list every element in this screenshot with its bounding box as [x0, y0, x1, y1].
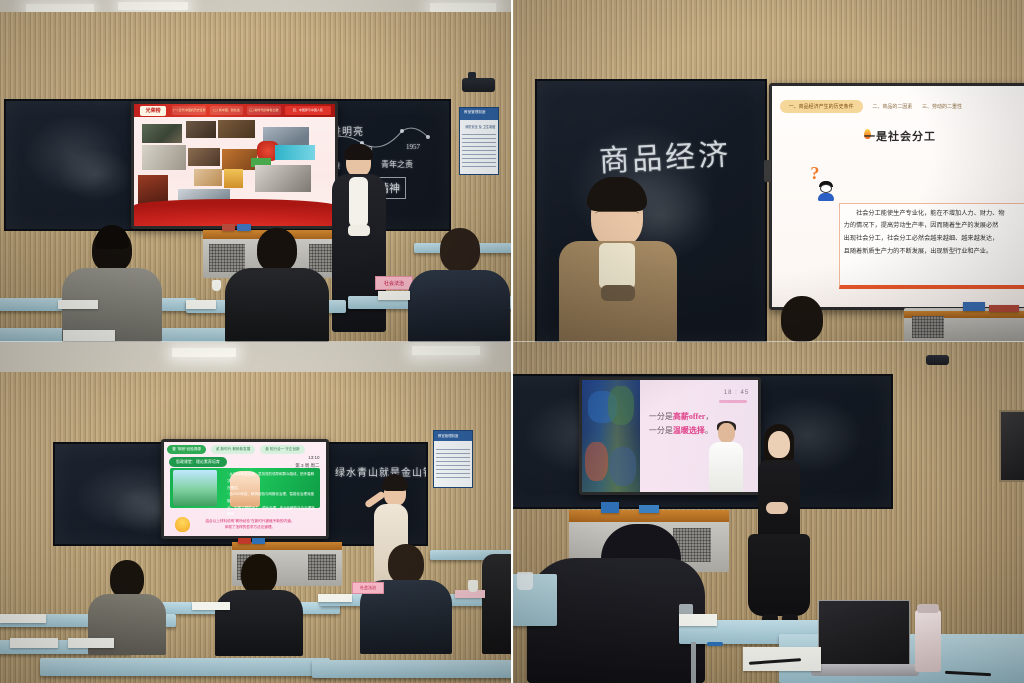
slide-patriotic-collage: 光荣榜 (一) 近代中国的历史任务 (二) 新中国、新社会 (三) 新时代的青春… — [134, 104, 335, 226]
thermos — [915, 610, 941, 672]
thermos-lid — [917, 604, 939, 613]
slide-nav-item[interactable]: 二、商品的二因素 — [872, 103, 912, 110]
screen-side-button[interactable] — [764, 160, 771, 182]
papers — [679, 614, 717, 626]
shirt — [349, 177, 368, 227]
ceiling-light — [412, 346, 480, 355]
hands — [601, 285, 635, 301]
slide-body-line: 且随着新质生产力的不断发展，出现新型行业和产业。 — [844, 246, 1024, 259]
water-cup — [517, 572, 533, 590]
wall-poster: 教室管理制度 消防安全 及 卫生制度 — [459, 107, 499, 175]
podium-item — [639, 505, 659, 513]
slide-body: 社会分工能使生产专业化，能在不增加人力、财力、物 力的情况下，提高劳动生产率，因… — [844, 208, 1024, 259]
inner-top — [599, 243, 635, 289]
audience-member — [62, 228, 162, 342]
wall-recess — [999, 410, 1024, 482]
wall-poster: 教室管理制度 — [433, 430, 473, 488]
wall-poster-title: 教室管理制度 — [438, 433, 458, 438]
display-screen[interactable]: 一、商品经济产生的历史条件 二、商品的二因素 三、劳动的二重性 一是社会分工 ?… — [769, 83, 1024, 310]
audience-member — [225, 228, 329, 342]
camera-icon — [468, 72, 476, 81]
desk — [40, 658, 330, 676]
slide-photo — [224, 169, 242, 189]
podium-item — [989, 305, 1019, 312]
slide-subtitle-chip: 思政课堂：理论素养培育 — [169, 457, 227, 467]
slide-footer-line: 结合以上材料说明"枫桥经验"在新时代被赋予新的内涵， — [187, 518, 313, 525]
chalk-handwriting: 商品经济 — [598, 130, 732, 181]
papers — [192, 602, 230, 610]
papers — [318, 594, 352, 602]
laptop-keyboard[interactable] — [811, 664, 919, 676]
slide-body-line: 合，实现了预防为主、源头治理、多元化解的社会治理新格局， — [227, 505, 315, 518]
slide-body-line: 出现社会分工，社会分工必然会越来越细、越来越发达， — [844, 233, 1024, 246]
display-screen[interactable]: 18 : 45 一分是高薪offer， 一分是温暖选择。 — [579, 377, 761, 495]
student-presenter — [744, 424, 812, 629]
papers — [10, 638, 58, 648]
slide-tab: (三) 新时代的青春之歌 — [247, 106, 281, 115]
papers — [68, 638, 114, 648]
hair — [587, 177, 647, 211]
slide-underline — [719, 400, 747, 403]
cup — [468, 580, 478, 592]
slide-body-line: · 自2019年起，枫桥经验与网格化治理、智能化治理深度融 — [227, 491, 315, 504]
slide-tab: (一) 近代中国的历史任务 — [172, 106, 206, 115]
slide-tab: (二) 新中国、新社会 — [210, 106, 242, 115]
panel-bottom-left: 绿水青山就是金山银山 壹 "枫桥"经验溯源 贰 新时代 枫桥新发展 叁 知行合一… — [0, 342, 511, 683]
slide-line-1-accent: 高薪offer — [673, 412, 705, 421]
podium-item — [963, 302, 985, 311]
slide-nav: 一、商品经济产生的历史条件 二、商品的二因素 三、劳动的二重性 — [780, 97, 1021, 117]
person-avatar-icon — [818, 181, 834, 201]
ceiling-light — [118, 2, 188, 10]
cup — [212, 280, 221, 291]
desk-leg — [691, 642, 696, 683]
slide-logo: 光荣榜 — [140, 106, 166, 116]
slide-photo — [138, 175, 168, 204]
slide-body-line: · 从2003年起实施，坚持党的领导和群众路线，把矛盾解决 — [227, 471, 315, 484]
hands — [348, 225, 370, 236]
podium-item — [252, 538, 265, 544]
slide-red-wave — [134, 199, 335, 226]
teacher — [559, 175, 677, 342]
camera-mount — [462, 78, 495, 92]
slide-nav-item[interactable]: 三、劳动的二重性 — [922, 103, 962, 110]
slide-photo — [275, 145, 315, 160]
slide-body-line: 社会分工能使生产专业化，能在不增加人力、财力、物 — [844, 208, 1024, 221]
slide-line-2-accent: 温暖选择 — [673, 426, 705, 435]
podium-item — [238, 538, 251, 544]
slide-body-line: 力的情况下，提高劳动生产率，因而随着生产的发展必然 — [844, 220, 1024, 233]
skirt — [748, 534, 810, 616]
slide-photo — [142, 145, 186, 169]
slide-nav-item-active[interactable]: 一、商品经济产生的历史条件 — [780, 100, 863, 113]
speaker — [926, 355, 949, 365]
slide-photo — [188, 148, 220, 166]
slide-line-2: 一分是温暖选择。 — [649, 425, 713, 436]
slide-time-value: 13:10 — [295, 454, 319, 462]
audience-member — [360, 544, 452, 654]
panel-divider-horizontal — [0, 341, 1024, 342]
audience-member — [482, 540, 511, 654]
papers — [63, 330, 115, 341]
ceiling-light — [172, 348, 236, 357]
slide-commodity-economy: 一、商品经济产生的历史条件 二、商品的二因素 三、劳动的二重性 一是社会分工 ?… — [772, 86, 1024, 307]
ceiling-light — [430, 3, 496, 12]
slide-fengqiao-experience: 壹 "枫桥"经验溯源 贰 新时代 枫桥新发展 叁 知行合一 守正创新 思政课堂：… — [164, 442, 326, 536]
papers — [58, 300, 98, 309]
podium-item — [601, 502, 619, 513]
slide-person-photo — [705, 423, 747, 492]
slide-line-2-prefix: 一分是 — [649, 426, 673, 435]
papers — [186, 300, 216, 309]
slide-photo — [173, 470, 218, 506]
audience-member — [408, 228, 510, 342]
display-screen[interactable]: 壹 "枫桥"经验溯源 贰 新时代 枫桥新发展 叁 知行合一 守正创新 思政课堂：… — [161, 439, 329, 539]
slide-photo — [186, 121, 216, 138]
slide-photo — [255, 165, 311, 192]
slide-tab-active[interactable]: 壹 "枫桥"经验溯源 — [167, 445, 206, 454]
slide-time: 18 : 45 — [724, 390, 749, 396]
wall-poster-subtitle: 消防安全 及 卫生制度 — [465, 124, 495, 129]
slide-tabs: 壹 "枫桥"经验溯源 贰 新时代 枫桥新发展 叁 知行合一 守正创新 — [167, 445, 323, 454]
slide-tab[interactable]: 叁 知行合一 守正创新 — [260, 445, 304, 454]
glasses-icon — [707, 642, 723, 646]
panel-top-right: 商品经济 一、商品经济产生的历史条件 二、商品的二因素 三、劳动的二重性 一是社… — [511, 0, 1024, 342]
slide-photo — [582, 380, 640, 492]
slide-career-choice: 18 : 45 一分是高薪offer， 一分是温暖选择。 — [582, 380, 758, 492]
photo-collage: 先进明亮 1840 1949 1957 理想 青年之责 建党精神 光荣榜 (一)… — [0, 0, 1024, 683]
hair — [382, 474, 408, 491]
slide-tab[interactable]: 贰 新时代 枫桥新发展 — [211, 445, 255, 454]
wall-poster-title: 教室管理制度 — [464, 110, 486, 115]
slide-tab-active: 四、中国梦与中国人民 — [285, 106, 331, 115]
hair — [344, 144, 373, 160]
slide-green-panel: · 从2003年起实施，坚持党的领导和群众路线，把矛盾解决 在基层。 · 自20… — [170, 468, 319, 507]
glasses-icon — [595, 211, 639, 218]
slide-line-1-suffix: ， — [705, 412, 713, 421]
slide-footer-line: 体现了怎样的哲学方法论道理。 — [187, 524, 313, 531]
laptop-screen[interactable] — [818, 600, 910, 668]
slide-line-1: 一分是高薪offer， — [649, 411, 713, 422]
desk — [312, 660, 511, 678]
name-card: 社会法治 — [352, 582, 384, 594]
hands — [766, 502, 788, 514]
panel-top-left: 先进明亮 1840 1949 1957 理想 青年之责 建党精神 光荣榜 (一)… — [0, 0, 511, 342]
papers — [0, 614, 46, 623]
slide-heading: 一是社会分工 — [772, 128, 1024, 144]
slide-body-line: 在基层。 — [227, 485, 315, 492]
slide-photo — [218, 120, 254, 138]
slide-footer: 结合以上材料说明"枫桥经验"在新时代被赋予新的内涵， 体现了怎样的哲学方法论道理… — [187, 518, 313, 532]
podium — [904, 308, 1024, 342]
display-screen[interactable]: 光荣榜 (一) 近代中国的历史任务 (二) 新中国、新社会 (三) 新时代的青春… — [131, 101, 338, 229]
slide-photo — [194, 169, 222, 186]
panel-bottom-right: 18 : 45 一分是高薪offer， 一分是温暖选择。 — [511, 342, 1024, 683]
papers — [378, 291, 410, 300]
audience-member — [759, 296, 845, 342]
slide-photo — [142, 124, 182, 144]
slide-line-1-prefix: 一分是 — [649, 412, 673, 421]
